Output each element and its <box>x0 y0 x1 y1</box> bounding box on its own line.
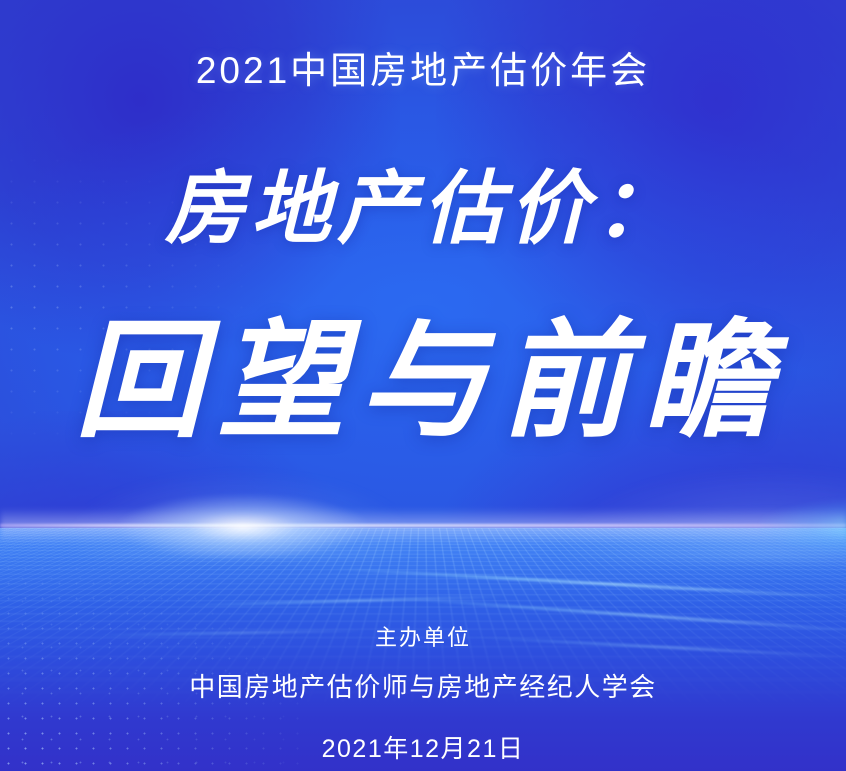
host-label: 主办单位 <box>0 620 846 652</box>
event-date: 2021年12月21日 <box>0 729 846 765</box>
conference-title: 2021中国房地产估价年会 <box>0 40 846 94</box>
conference-poster: 2021中国房地产估价年会 房地产估价： 回望与前瞻 主办单位 中国房地产估价师… <box>0 0 846 771</box>
theme-prefix-calligraphy: 房地产估价： <box>0 168 846 252</box>
poster-content: 2021中国房地产估价年会 房地产估价： 回望与前瞻 主办单位 中国房地产估价师… <box>0 0 846 771</box>
theme-main-calligraphy: 回望与前瞻 <box>0 312 846 453</box>
host-organization: 中国房地产估价师与房地产经纪人学会 <box>0 667 846 704</box>
